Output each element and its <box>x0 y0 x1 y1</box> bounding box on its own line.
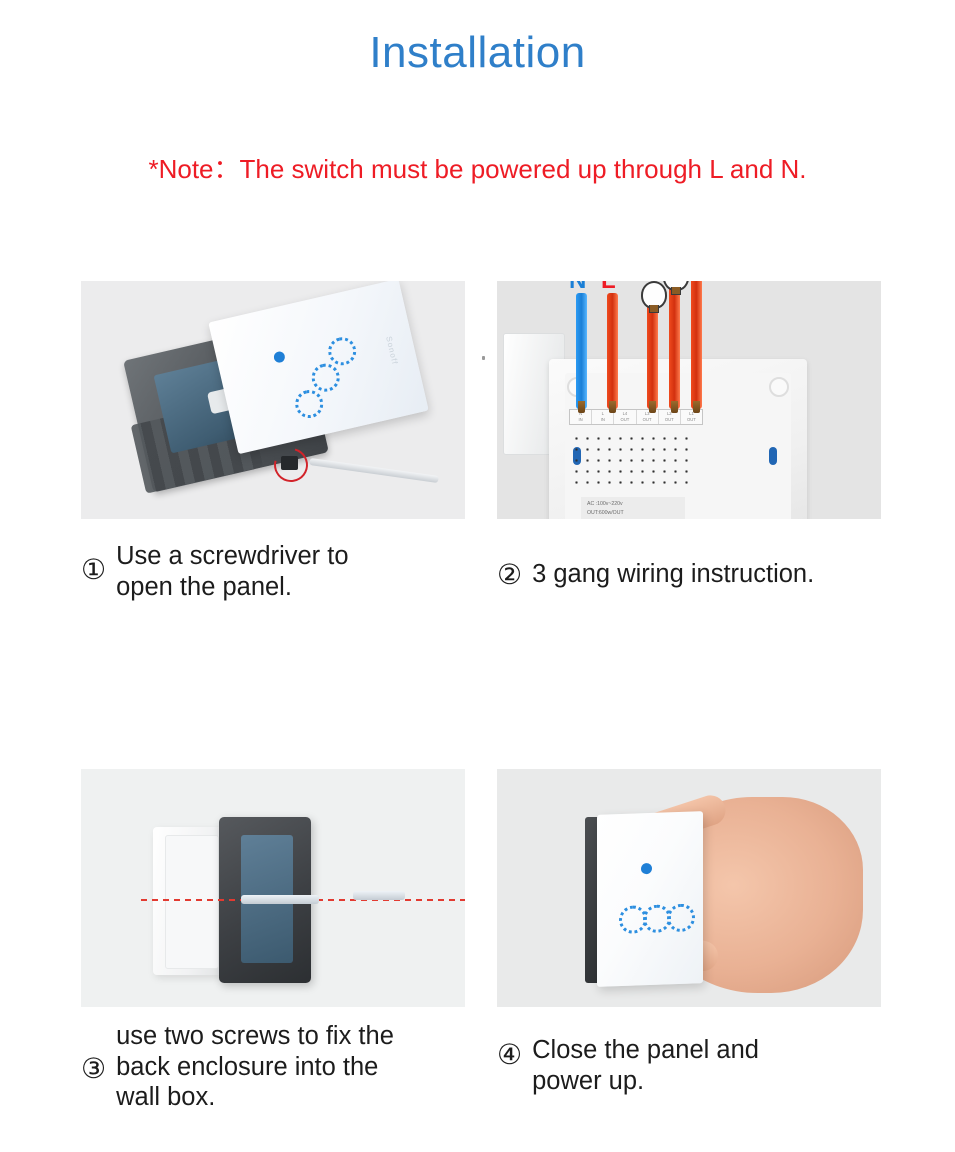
load-wire-2 <box>669 285 680 409</box>
step-3-photo <box>81 769 465 1007</box>
step-2-caption: ② 3 gang wiring instruction. <box>497 559 881 590</box>
note-text: *Note：The switch must be powered up thro… <box>0 149 955 186</box>
live-wire-tip <box>609 401 616 413</box>
mount-hole-top-right <box>769 377 789 397</box>
step-4: ④ Close the panel and power up. <box>497 769 881 1113</box>
step-4-caption: ④ Close the panel and power up. <box>497 1035 881 1096</box>
step-3: ③ use two screws to fix the back enclosu… <box>81 769 465 1113</box>
wire-label-n: N <box>569 281 586 295</box>
alignment-line-left <box>141 899 249 901</box>
step-1: Sonoff ① Use a screwdriver to open the p… <box>81 281 465 602</box>
light-bulb-icon-1 <box>641 281 667 309</box>
step-2-text: 3 gang wiring instruction. <box>532 559 814 590</box>
spec-line-voltage: AC :100v~220v <box>587 500 685 509</box>
load-wire-1 <box>647 303 658 409</box>
step-2-photo: NIN LIN L4OUT L3OUT L2OUT L1OUT AC :100v… <box>497 281 881 519</box>
touch-button-3-icon <box>292 387 326 421</box>
touch-button-3-icon-front <box>667 904 695 933</box>
load-wire-2-tip <box>671 401 678 413</box>
step-1-photo: Sonoff <box>81 281 465 519</box>
terminal-label-strip: NIN LIN L4OUT L3OUT L2OUT L1OUT <box>569 409 703 425</box>
specification-label: AC :100v~220v OUT:600w/OUT 802.11/g 2.4G… <box>581 497 685 519</box>
step-1-number: ① <box>81 555 106 584</box>
load-wire-3-tip <box>693 401 700 413</box>
light-bulb-icon-2 <box>663 281 689 291</box>
wire-label-l: L <box>601 281 616 295</box>
step-4-photo <box>497 769 881 1007</box>
wall-mounting-box-cavity <box>165 835 219 969</box>
touch-button-1-icon <box>325 334 359 368</box>
steps-row-bottom: ③ use two screws to fix the back enclosu… <box>81 769 881 1113</box>
step-1-text: Use a screwdriver to open the panel. <box>116 541 348 602</box>
neutral-wire <box>576 293 587 409</box>
steps-row-top: Sonoff ① Use a screwdriver to open the p… <box>81 281 881 602</box>
spec-line-wireless: 802.11/g 2.4GHz/RF 433MHz <box>587 518 685 519</box>
screw-slot-right <box>769 447 777 465</box>
terminal-l4: L4OUT <box>614 410 636 424</box>
wifi-indicator-dot-front <box>641 863 652 874</box>
step-3-text: use two screws to fix the back enclosure… <box>116 1021 394 1113</box>
wifi-indicator-dot <box>273 350 286 363</box>
glass-touch-panel: Sonoff <box>208 281 428 454</box>
glass-touch-panel-front <box>597 811 703 987</box>
step-3-caption: ③ use two screws to fix the back enclosu… <box>81 1021 465 1113</box>
step-2: NIN LIN L4OUT L3OUT L2OUT L1OUT AC :100v… <box>497 281 881 602</box>
mounting-screw-1 <box>241 895 319 904</box>
load-wire-1-tip <box>649 401 656 413</box>
mounting-screw-2 <box>353 891 405 900</box>
screwdriver-shaft <box>309 458 439 483</box>
step-4-number: ④ <box>497 1040 522 1069</box>
neutral-wire-tip <box>578 401 585 413</box>
step-4-text: Close the panel and power up. <box>532 1035 759 1096</box>
spec-line-output: OUT:600w/OUT <box>587 509 685 518</box>
load-wire-3 <box>691 281 702 409</box>
step-3-number: ③ <box>81 1054 106 1083</box>
ventilation-hole-grid <box>571 433 695 491</box>
step-2-number: ② <box>497 560 522 589</box>
page-title: Installation <box>0 28 955 78</box>
installation-steps-grid: Sonoff ① Use a screwdriver to open the p… <box>81 281 881 1113</box>
step-1-caption: ① Use a screwdriver to open the panel. <box>81 541 465 602</box>
live-wire <box>607 293 618 409</box>
touch-button-2-icon <box>309 361 343 395</box>
brand-mark: Sonoff <box>384 335 399 365</box>
